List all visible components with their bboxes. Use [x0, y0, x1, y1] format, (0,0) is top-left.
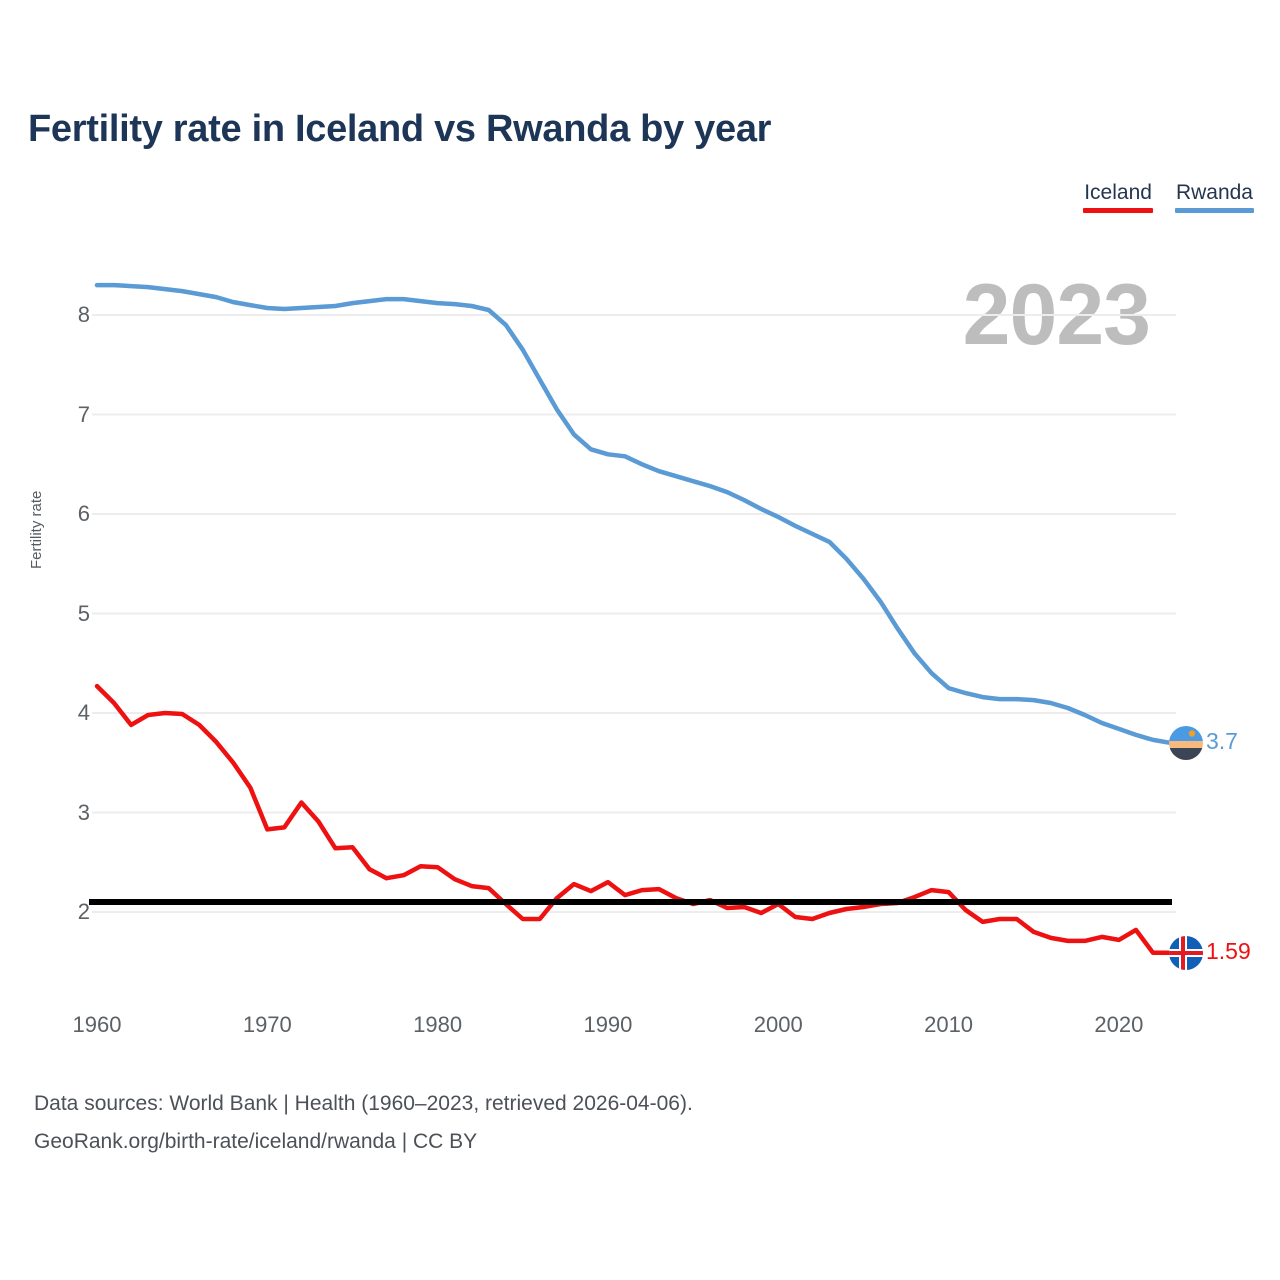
footer-line-1: Data sources: World Bank | Health (1960–… — [34, 1085, 693, 1123]
chart-page: Fertility rate in Iceland vs Rwanda by y… — [0, 0, 1280, 1280]
endpoint-value-iceland: 1.59 — [1206, 938, 1251, 965]
footer-attribution: Data sources: World Bank | Health (1960–… — [34, 1085, 693, 1161]
footer-line-2: GeoRank.org/birth-rate/iceland/rwanda | … — [34, 1123, 693, 1161]
rwanda-flag-icon — [1169, 726, 1203, 760]
endpoint-value-rwanda: 3.7 — [1206, 728, 1238, 755]
chart-gridlines — [92, 315, 1176, 912]
iceland-flag-icon — [1169, 936, 1203, 970]
